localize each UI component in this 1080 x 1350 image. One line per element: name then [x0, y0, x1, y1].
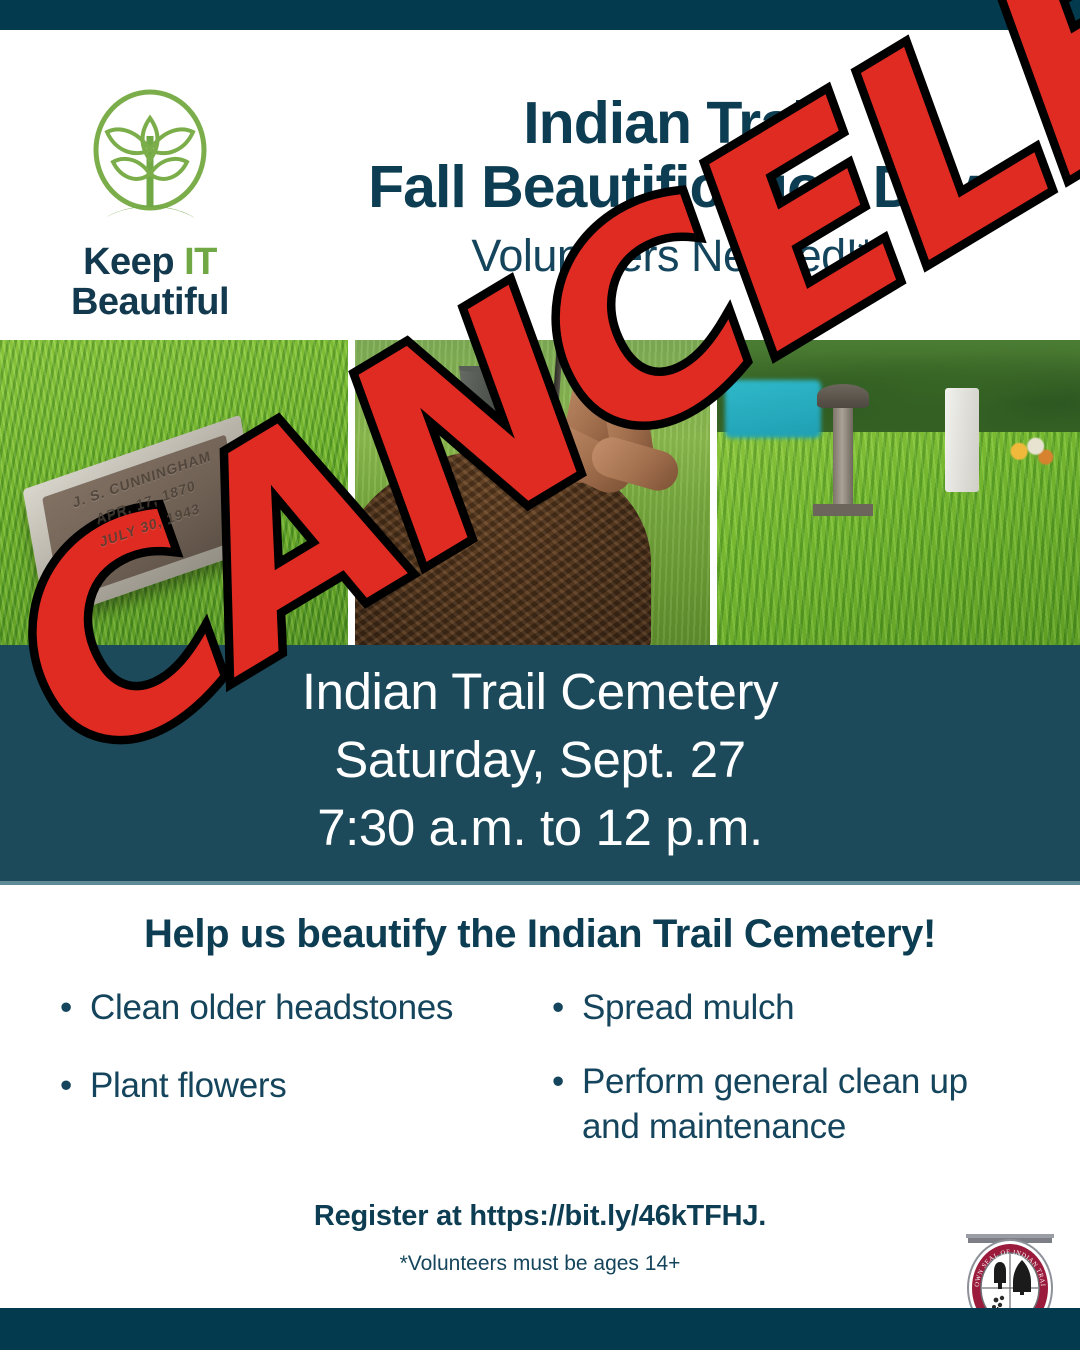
event-time: 7:30 a.m. to 12 p.m.: [317, 794, 763, 862]
bullet-icon: •: [552, 1059, 582, 1105]
bullet-icon: •: [60, 1063, 90, 1109]
top-accent-bar: [0, 0, 1080, 30]
task-columns: • Clean older headstones • Plant flowers…: [0, 985, 1080, 1178]
task-item: • Plant flowers: [60, 1063, 540, 1109]
white-headstone: [945, 388, 979, 492]
grave-flowers: [1009, 436, 1055, 470]
cemetery-lawn-photo: [717, 340, 1080, 645]
task-item: • Spread mulch: [552, 985, 1080, 1031]
event-location: Indian Trail Cemetery: [302, 658, 778, 726]
title-block: Indian Trail Fall Beautification Day Vol…: [300, 30, 1080, 285]
register-link[interactable]: Register at https://bit.ly/46kTFHJ.: [0, 1200, 1080, 1233]
bottom-accent-bar: [0, 1308, 1080, 1350]
task-label: Clean older headstones: [90, 985, 453, 1031]
bullet-icon: •: [552, 985, 582, 1031]
task-label: Plant flowers: [90, 1063, 286, 1109]
bullet-icon: •: [60, 985, 90, 1031]
page-subtitle: Volunteers Needed!*: [300, 228, 1046, 284]
event-details-banner: Indian Trail Cemetery Saturday, Sept. 27…: [0, 645, 1080, 885]
event-date: Saturday, Sept. 27: [334, 726, 745, 794]
task-column-right: • Spread mulch • Perform general clean u…: [540, 985, 1080, 1178]
age-footnote: *Volunteers must be ages 14+: [0, 1252, 1080, 1276]
tree-in-circle-icon: [75, 88, 225, 238]
logo-wordmark: Keep IT Beautiful: [71, 242, 229, 323]
page-title-line-2: Fall Beautification Day: [300, 156, 1046, 220]
spreading-mulch-photo: [355, 340, 710, 645]
page-title-line-1: Indian Trail: [300, 92, 1046, 156]
water-feature: [725, 380, 821, 438]
photo-strip: J. S. CUNNINGHAM APR. 17, 1870 JULY 30, …: [0, 340, 1080, 645]
task-item: • Perform general clean up and maintenan…: [552, 1059, 1080, 1150]
poster-canvas: Keep IT Beautiful Indian Trail Fall Beau…: [0, 0, 1080, 1350]
logo-keep-text: Keep: [83, 241, 174, 283]
logo-it-text: IT: [184, 241, 217, 283]
task-column-left: • Clean older headstones • Plant flowers: [0, 985, 540, 1178]
tasks-heading: Help us beautify the Indian Trail Cemete…: [0, 912, 1080, 957]
task-label: Perform general clean up and maintenance: [582, 1059, 972, 1150]
poster-header: Keep IT Beautiful Indian Trail Fall Beau…: [0, 30, 1080, 340]
task-label: Spread mulch: [582, 985, 794, 1031]
logo-beautiful-text: Beautiful: [71, 282, 229, 322]
headstone-in-grass-photo: J. S. CUNNINGHAM APR. 17, 1870 JULY 30, …: [0, 340, 348, 645]
cemetery-monument: [833, 400, 853, 508]
keep-it-beautiful-logo: Keep IT Beautiful: [0, 30, 300, 323]
task-item: • Clean older headstones: [60, 985, 540, 1031]
